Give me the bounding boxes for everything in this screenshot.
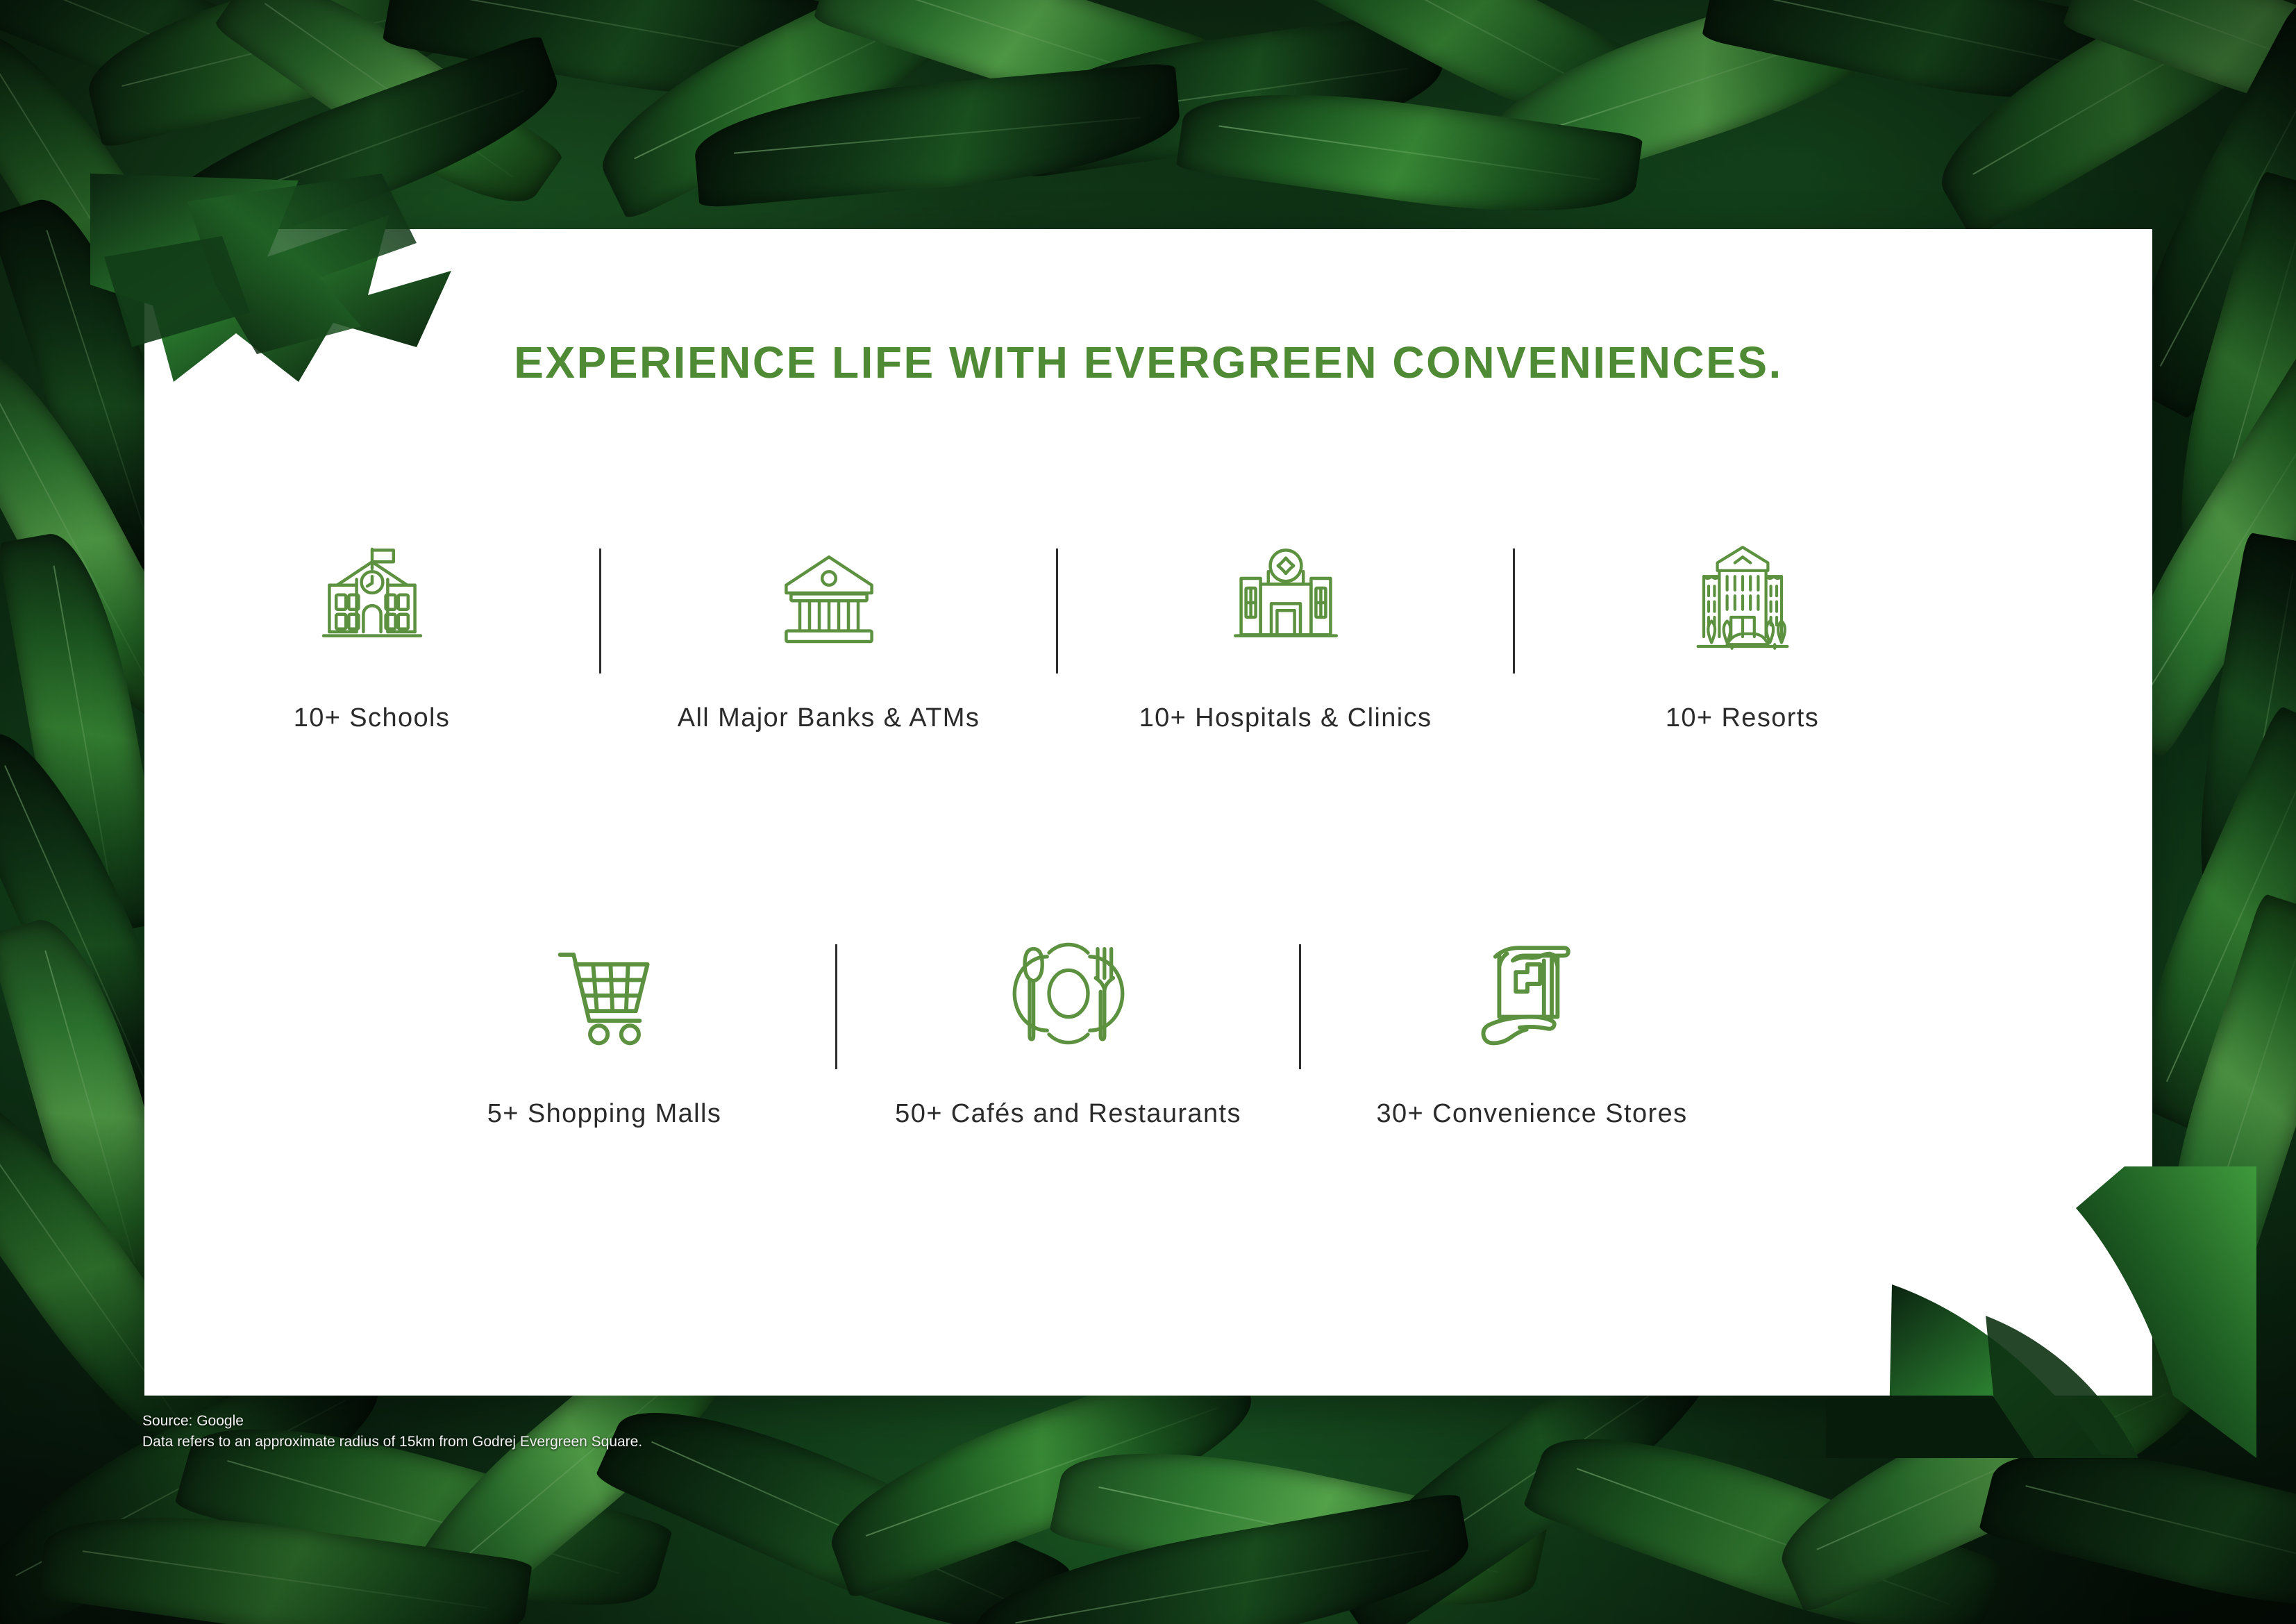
bank-building-icon xyxy=(771,528,887,656)
feature-label: 10+ Hospitals & Clinics xyxy=(1139,699,1432,737)
feature-label: 10+ Resorts xyxy=(1666,699,1819,737)
feature-item-cafes-restaurants[interactable]: 50+ Cafés and Restaurants xyxy=(837,923,1299,1133)
feature-item-schools[interactable]: 10+ Schools xyxy=(144,528,599,737)
pharmacy-bag-in-hands-icon xyxy=(1474,923,1591,1052)
feature-item-shopping-malls[interactable]: 5+ Shopping Malls xyxy=(374,923,835,1133)
feature-item-banks[interactable]: All Major Banks & ATMs xyxy=(601,528,1056,737)
feature-label: 10+ Schools xyxy=(294,699,451,737)
plate-cutlery-icon xyxy=(1010,923,1127,1052)
feature-label: 30+ Convenience Stores xyxy=(1376,1095,1687,1133)
shopping-cart-icon xyxy=(546,923,663,1052)
school-building-icon xyxy=(314,528,430,656)
feature-label: 5+ Shopping Malls xyxy=(487,1095,722,1133)
footnote: Source: Google Data refers to an approxi… xyxy=(142,1411,642,1453)
hospital-building-icon xyxy=(1227,528,1344,656)
feature-row-2: 5+ Shopping Malls 50+ Cafés and Restaura… xyxy=(144,923,2296,1133)
resort-hotel-icon xyxy=(1684,528,1801,656)
footnote-disclaimer: Data refers to an approximate radius of … xyxy=(142,1432,642,1453)
feature-item-hospitals[interactable]: 10+ Hospitals & Clinics xyxy=(1058,528,1513,737)
feature-label: All Major Banks & ATMs xyxy=(678,699,980,737)
feature-item-convenience-stores[interactable]: 30+ Convenience Stores xyxy=(1301,923,1763,1133)
page-title: EXPERIENCE LIFE WITH EVERGREEN CONVENIEN… xyxy=(144,337,2152,388)
footnote-source: Source: Google xyxy=(142,1411,642,1432)
feature-label: 50+ Cafés and Restaurants xyxy=(895,1095,1241,1133)
feature-row-1: 10+ Schools All Major Banks & ATMs xyxy=(144,528,2152,737)
feature-item-resorts[interactable]: 10+ Resorts xyxy=(1515,528,1970,737)
